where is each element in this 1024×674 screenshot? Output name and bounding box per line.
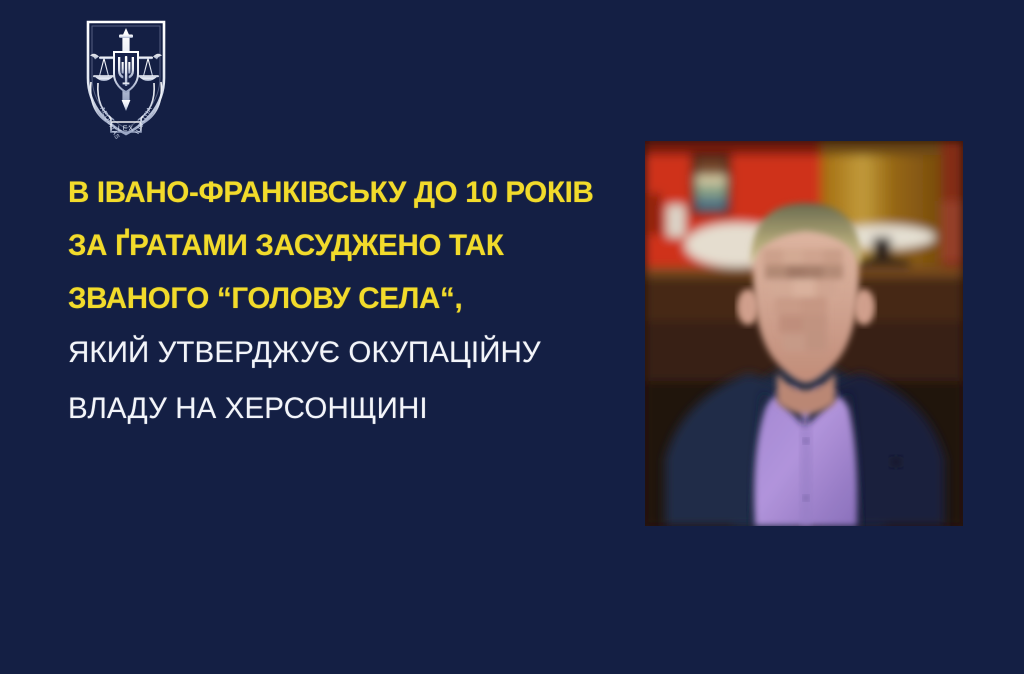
motto-center-text: LEX xyxy=(118,126,134,133)
subject-photo xyxy=(645,141,963,526)
trident-escutcheon xyxy=(114,52,138,92)
motto-right-text: IUSTITIA xyxy=(134,106,154,136)
headline-body-line-2: ВЛАДУ НА ХЕРСОНЩИНІ xyxy=(68,381,628,437)
headline-block: В ІВАНО-ФРАНКІВСЬКУ ДО 10 РОКІВ ЗА ҐРАТА… xyxy=(68,166,628,437)
press-release-card: AEQUITAS IUSTITIA LEX В ІВАНО-ФРАНКІВСЬК… xyxy=(0,0,1024,674)
headline-highlight-line-1: В ІВАНО-ФРАНКІВСЬКУ ДО 10 РОКІВ xyxy=(68,166,628,219)
prosecutors-office-emblem: AEQUITAS IUSTITIA LEX xyxy=(78,16,174,144)
headline-body-line-1: ЯКИЙ УТВЕРДЖУЄ ОКУПАЦІЙНУ xyxy=(68,325,628,381)
headline-highlight-line-3: ЗВАНОГО “ГОЛОВУ СЕЛА“, xyxy=(68,272,628,325)
headline-highlight-line-2: ЗА ҐРАТАМИ ЗАСУДЖЕНО ТАК xyxy=(68,219,628,272)
